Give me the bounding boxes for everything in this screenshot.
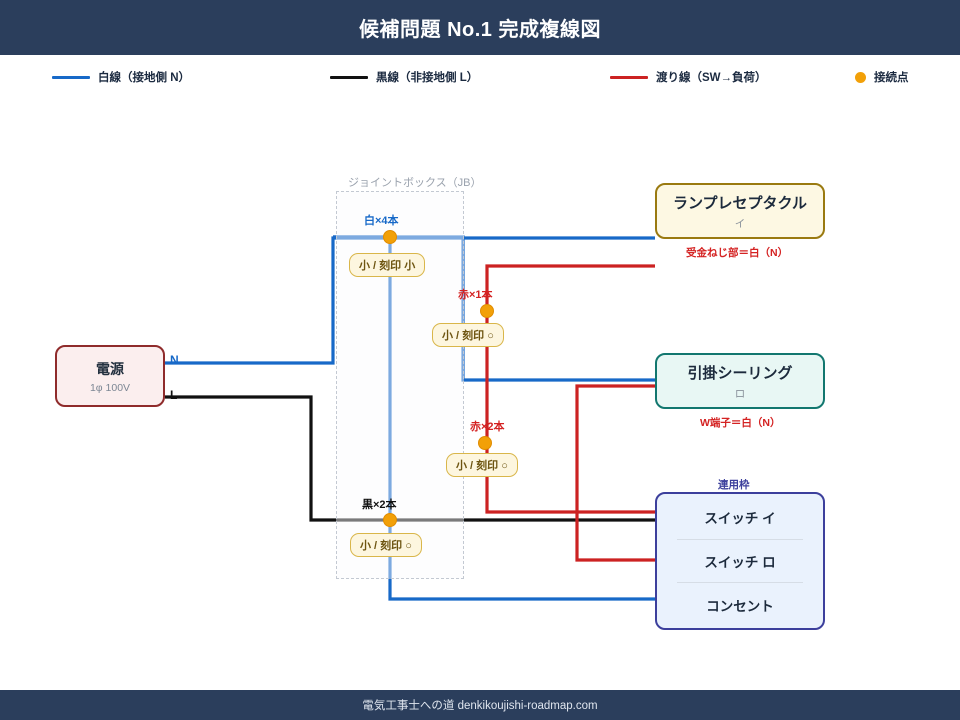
connection-node-2[interactable] bbox=[480, 304, 494, 318]
ceiling-rose-note: W端子＝白（N） bbox=[700, 415, 781, 430]
lamp-receptacle-mark: イ bbox=[735, 216, 746, 231]
node-chip-2: 小 / 刻印 ○ bbox=[432, 323, 504, 347]
joint-box-label: ジョイントボックス（JB） bbox=[348, 174, 482, 190]
page-footer: 電気工事士への道 denkikoujishi-roadmap.com bbox=[0, 690, 960, 720]
switch-frame-label: 連用枠 bbox=[718, 477, 750, 492]
diagram-canvas: ジョイントボックス（JB） 白×4本 小 / 刻印 小 赤×1本 小 / 刻印 … bbox=[0, 100, 960, 690]
power-source-spec: 1φ 100V bbox=[90, 382, 130, 394]
node-chip-1: 小 / 刻印 小 bbox=[349, 253, 425, 277]
switch-row-divider-1 bbox=[677, 539, 803, 540]
connection-node-1[interactable] bbox=[383, 230, 397, 244]
lamp-receptacle-box[interactable]: ランプレセプタクル イ bbox=[655, 183, 825, 239]
connection-node-3[interactable] bbox=[478, 436, 492, 450]
legend-label-black-wire: 黒線（非接地側 L） bbox=[376, 69, 478, 85]
legend-label-connection-point: 接続点 bbox=[874, 69, 909, 85]
node-count-label-1: 白×4本 bbox=[364, 212, 399, 228]
connection-dot-icon bbox=[855, 72, 866, 83]
switch-row-outlet[interactable]: コンセント bbox=[657, 588, 823, 622]
joint-box-outline bbox=[336, 191, 464, 579]
ceiling-rose-mark: ロ bbox=[735, 386, 746, 401]
node-count-label-3: 赤×2本 bbox=[470, 418, 505, 434]
node-chip-4: 小 / 刻印 ○ bbox=[350, 533, 422, 557]
legend-item-black-wire: 黒線（非接地側 L） bbox=[330, 69, 478, 85]
switch-row-divider-2 bbox=[677, 582, 803, 583]
white-wire-line-icon bbox=[52, 76, 90, 79]
legend-item-white-wire: 白線（接地側 N） bbox=[52, 69, 190, 85]
legend-item-jumper-wire: 渡り線（SW→負荷） bbox=[610, 69, 767, 85]
black-wire-line-icon bbox=[330, 76, 368, 79]
connection-node-4[interactable] bbox=[383, 513, 397, 527]
terminal-label-l: L bbox=[170, 388, 177, 402]
page-header: 候補問題 No.1 完成複線図 bbox=[0, 0, 960, 55]
ceiling-rose-title: 引掛シーリング bbox=[687, 362, 792, 383]
power-source-title: 電源 bbox=[96, 359, 124, 379]
page-title: 候補問題 No.1 完成複線図 bbox=[359, 13, 601, 42]
lamp-receptacle-note: 受金ねじ部＝白（N） bbox=[686, 245, 788, 260]
legend-label-jumper-wire: 渡り線（SW→負荷） bbox=[656, 69, 767, 85]
terminal-label-n: N bbox=[170, 353, 179, 367]
switch-row-i[interactable]: スイッチ イ bbox=[657, 500, 823, 534]
footer-text: 電気工事士への道 denkikoujishi-roadmap.com bbox=[362, 697, 597, 713]
lamp-receptacle-title: ランプレセプタクル bbox=[673, 192, 807, 213]
jumper-wire-line-icon bbox=[610, 76, 648, 79]
node-chip-3: 小 / 刻印 ○ bbox=[446, 453, 518, 477]
switch-row-ro[interactable]: スイッチ ロ bbox=[657, 544, 823, 578]
node-count-label-4: 黒×2本 bbox=[362, 496, 397, 512]
ceiling-rose-box[interactable]: 引掛シーリング ロ bbox=[655, 353, 825, 409]
legend-item-connection-point: 接続点 bbox=[855, 69, 909, 85]
red-wire-ceiling-to-switch-ro bbox=[577, 386, 655, 560]
diagram-page: 候補問題 No.1 完成複線図 白線（接地側 N） 黒線（非接地側 L） 渡り線… bbox=[0, 0, 960, 720]
power-source-box[interactable]: 電源 1φ 100V bbox=[55, 345, 165, 407]
switch-frame-box[interactable]: スイッチ イ スイッチ ロ コンセント bbox=[655, 492, 825, 630]
legend: 白線（接地側 N） 黒線（非接地側 L） 渡り線（SW→負荷） 接続点 bbox=[0, 55, 960, 100]
node-count-label-2: 赤×1本 bbox=[458, 286, 493, 302]
legend-label-white-wire: 白線（接地側 N） bbox=[98, 69, 190, 85]
